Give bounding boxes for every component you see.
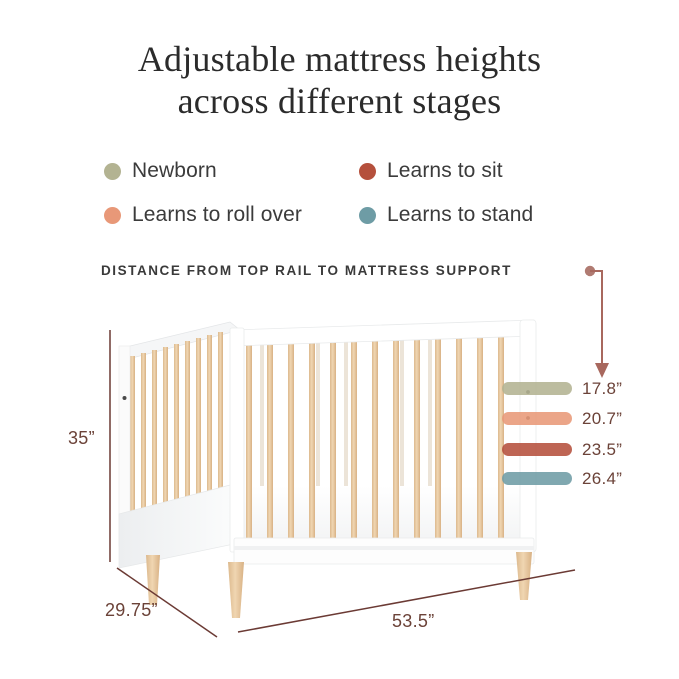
infographic-page: Adjustable mattress heights across diffe… xyxy=(0,0,679,679)
measurement-bar-learns-to-sit xyxy=(502,443,572,456)
measurement-bar-newborn xyxy=(502,382,572,395)
measurement-value-learns-to-stand: 26.4” xyxy=(582,469,622,489)
measurement-bar-learns-to-roll-over xyxy=(502,412,572,425)
measurement-value-newborn: 17.8” xyxy=(582,379,622,399)
measurement-bars: 17.8” 20.7” 23.5” 26.4” xyxy=(0,0,679,679)
measurement-bar-learns-to-stand xyxy=(502,472,572,485)
measurement-value-learns-to-sit: 23.5” xyxy=(582,440,622,460)
measurement-value-learns-to-roll-over: 20.7” xyxy=(582,409,622,429)
